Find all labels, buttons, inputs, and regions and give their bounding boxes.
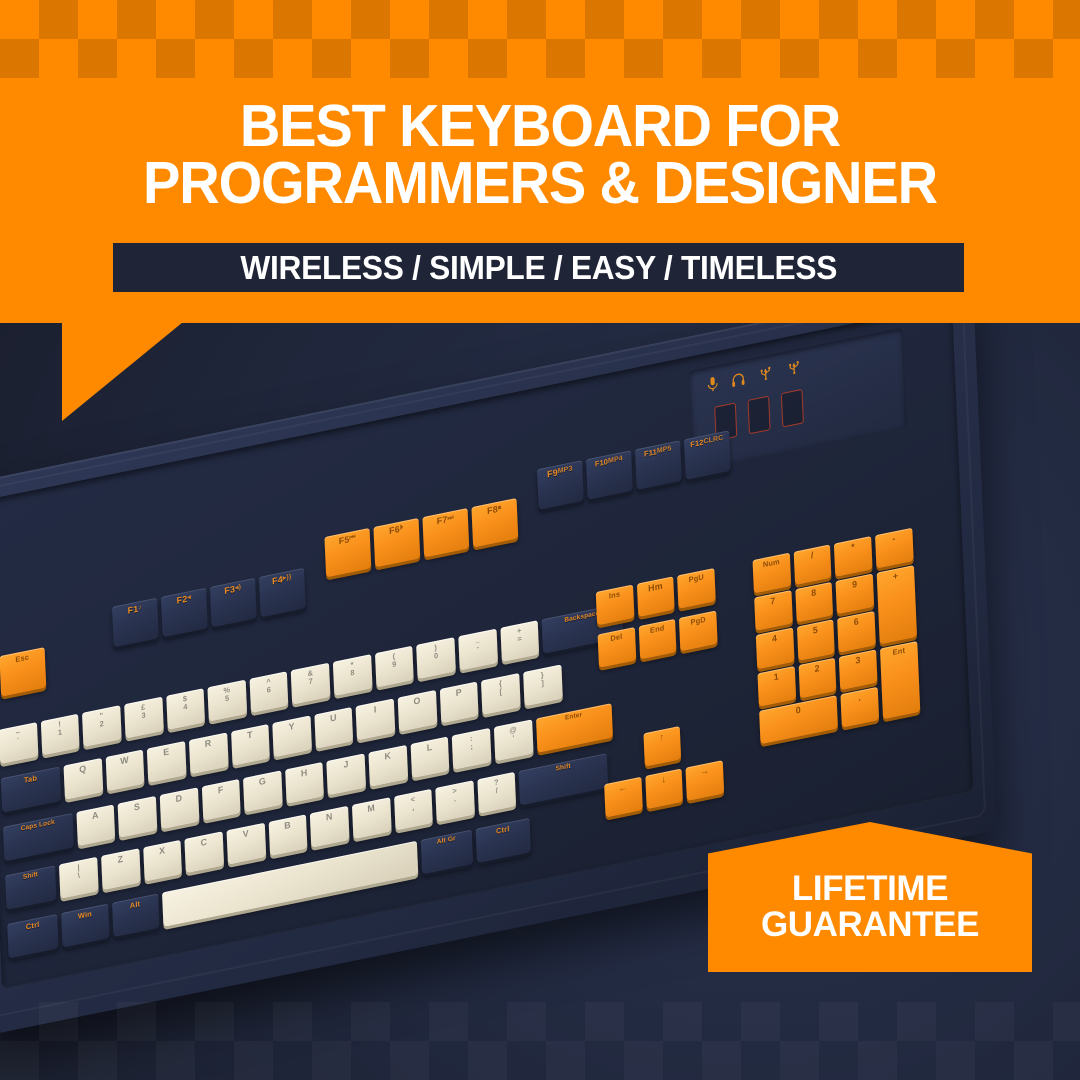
- headphone-icon: [732, 371, 745, 390]
- keycap-sublegend: ⏹: [498, 504, 502, 512]
- keycap-sublegend: CLRC: [703, 435, 723, 446]
- keycap-sublegend: MP4: [608, 455, 623, 465]
- lifetime-guarantee-badge: LIFETIME GUARANTEE: [708, 822, 1032, 972]
- usb-icon: [758, 365, 773, 383]
- poster-canvas: EscF1♪F2◂F3◂)F4▸))F5⏮F6⏵F7⏭F8⏹F9MP3F10MP…: [0, 0, 1080, 1080]
- header-banner: BEST KEYBOARD FOR PROGRAMMERS & DESIGNER…: [0, 0, 1080, 323]
- keycap-sublegend: MP5: [657, 445, 672, 455]
- keycap-sublegend: ⏮: [349, 534, 356, 543]
- keycap-sublegend: MP3: [558, 465, 573, 475]
- microphone-icon: [707, 375, 719, 394]
- usb-icon: [786, 359, 801, 377]
- io-port-slot: [781, 389, 804, 428]
- io-port-slot: [748, 396, 771, 435]
- subtitle-box: WIRELESS / SIMPLE / EASY / TIMELESS: [113, 243, 964, 292]
- keycap-sublegend: ♪: [138, 604, 142, 612]
- keycap-sublegend: ⏭: [447, 514, 454, 523]
- badge-text: LIFETIME GUARANTEE: [761, 871, 979, 943]
- subtitle-text: WIRELESS / SIMPLE / EASY / TIMELESS: [240, 249, 837, 287]
- keycap-sublegend: ◂: [187, 594, 191, 602]
- speech-bubble-tail: [62, 322, 183, 421]
- keycap-blank[interactable]: +: [877, 565, 917, 644]
- keycap-sublegend: ◂): [235, 584, 241, 593]
- keycap-sublegend: ▸)): [283, 573, 292, 582]
- page-title: BEST KEYBOARD FOR PROGRAMMERS & DESIGNER: [27, 98, 1053, 212]
- checker-pattern-top: [0, 0, 1080, 78]
- keycap-sublegend: ⏵: [400, 524, 404, 532]
- checker-pattern-bottom: [0, 1002, 1080, 1080]
- keycap-ent[interactable]: Ent: [880, 641, 920, 720]
